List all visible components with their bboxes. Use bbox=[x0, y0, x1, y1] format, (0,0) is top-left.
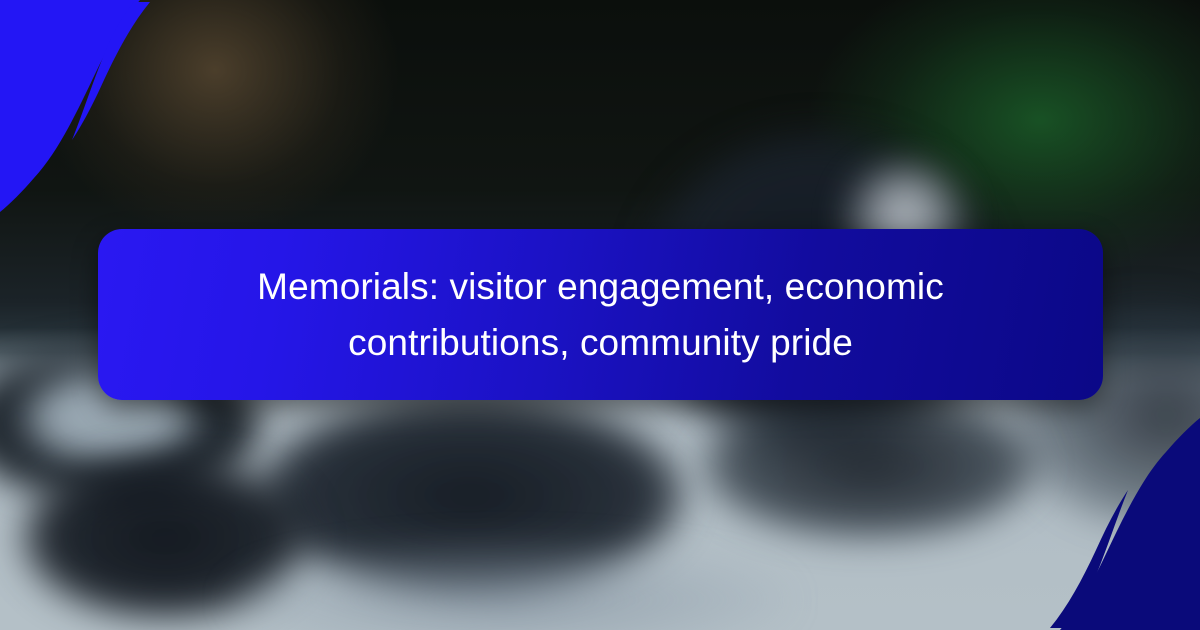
title-card: Memorials: visitor engagement, economic … bbox=[98, 229, 1103, 400]
background-object-lower-right bbox=[700, 390, 1040, 540]
banner-title: Memorials: visitor engagement, economic … bbox=[221, 259, 981, 371]
banner-canvas: Memorials: visitor engagement, economic … bbox=[0, 0, 1200, 630]
